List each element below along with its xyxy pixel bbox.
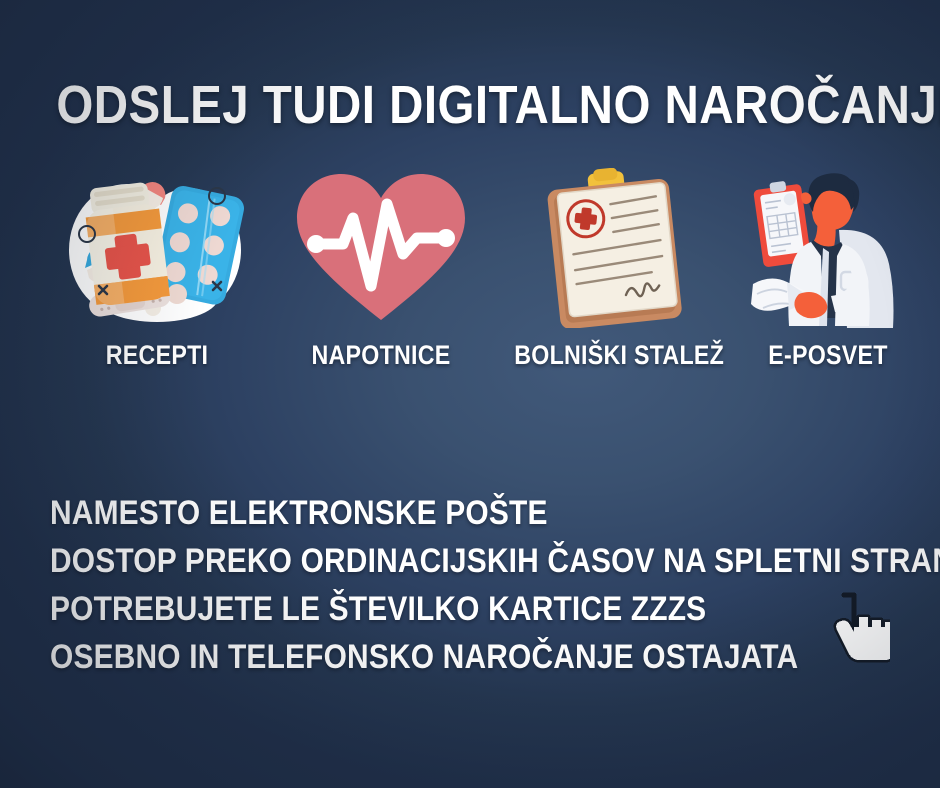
service-item-e-posvet[interactable]: E-POSVET xyxy=(728,168,928,370)
poster-canvas: ODSLEJ TUDI DIGITALNO NAROČANJE xyxy=(0,0,940,788)
pointing-hand-cursor-icon xyxy=(828,591,890,663)
body-line-1: NAMESTO ELEKTRONSKE POŠTE xyxy=(50,489,940,537)
service-item-bolniski-stalez[interactable]: BOLNIŠKI STALEŽ xyxy=(498,168,730,370)
service-label-napotnice: NAPOTNICE xyxy=(284,340,478,370)
service-label-recepti: RECEPTI xyxy=(58,340,256,370)
doctor-with-clipboard-icon xyxy=(728,168,928,328)
body-line-3: POTREBUJETE LE ŠTEVILKO KARTICE ZZZS xyxy=(50,585,940,633)
medical-clipboard-icon xyxy=(498,168,730,328)
body-line-4: OSEBNO IN TELEFONSKO NAROČANJE OSTAJATA xyxy=(50,633,940,681)
body-line-2: DOSTOP PREKO ORDINACIJSKIH ČASOV NA SPLE… xyxy=(50,537,940,585)
service-item-recepti[interactable]: RECEPTI xyxy=(42,168,272,370)
service-item-napotnice[interactable]: NAPOTNICE xyxy=(268,168,494,370)
service-icon-row: RECEPTI NAPOTNICE xyxy=(0,168,940,398)
body-copy: NAMESTO ELEKTRONSKE POŠTE DOSTOP PREKO O… xyxy=(50,489,940,681)
service-label-e-posvet: E-POSVET xyxy=(742,340,914,370)
page-title: ODSLEJ TUDI DIGITALNO NAROČANJE xyxy=(56,76,883,134)
pill-bottle-blister-icon xyxy=(42,168,272,328)
heart-heartbeat-icon xyxy=(268,168,494,328)
service-label-bolniski-stalez: BOLNIŠKI STALEŽ xyxy=(514,340,714,370)
